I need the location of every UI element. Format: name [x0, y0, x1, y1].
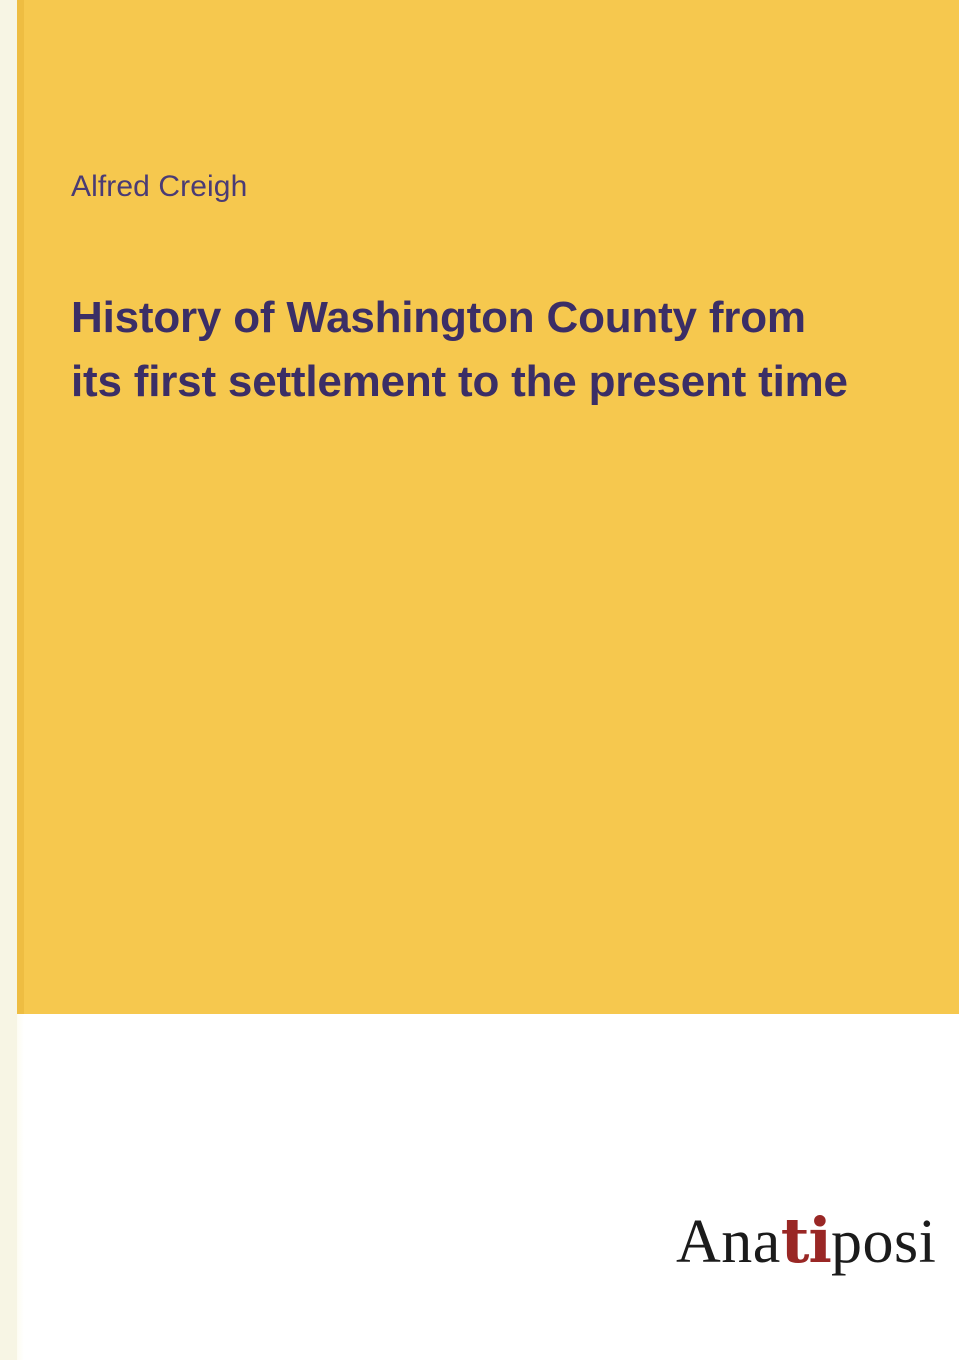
publisher-logo-prefix: Ana	[676, 1208, 781, 1276]
publisher-logo-suffix: posi	[831, 1208, 936, 1276]
white-fold-line	[17, 1014, 24, 1360]
publisher-logo: Anatiposi	[676, 1210, 936, 1273]
book-title: History of Washington County from its fi…	[71, 286, 861, 414]
left-edge-strip	[0, 0, 17, 1360]
publisher-logo-accent: ti	[781, 1204, 831, 1277]
author-name: Alfred Creigh	[71, 169, 247, 205]
yellow-cover-panel	[17, 0, 959, 1014]
book-cover: Alfred Creigh History of Washington Coun…	[0, 0, 959, 1360]
cover-fold-stripe	[17, 0, 24, 1014]
